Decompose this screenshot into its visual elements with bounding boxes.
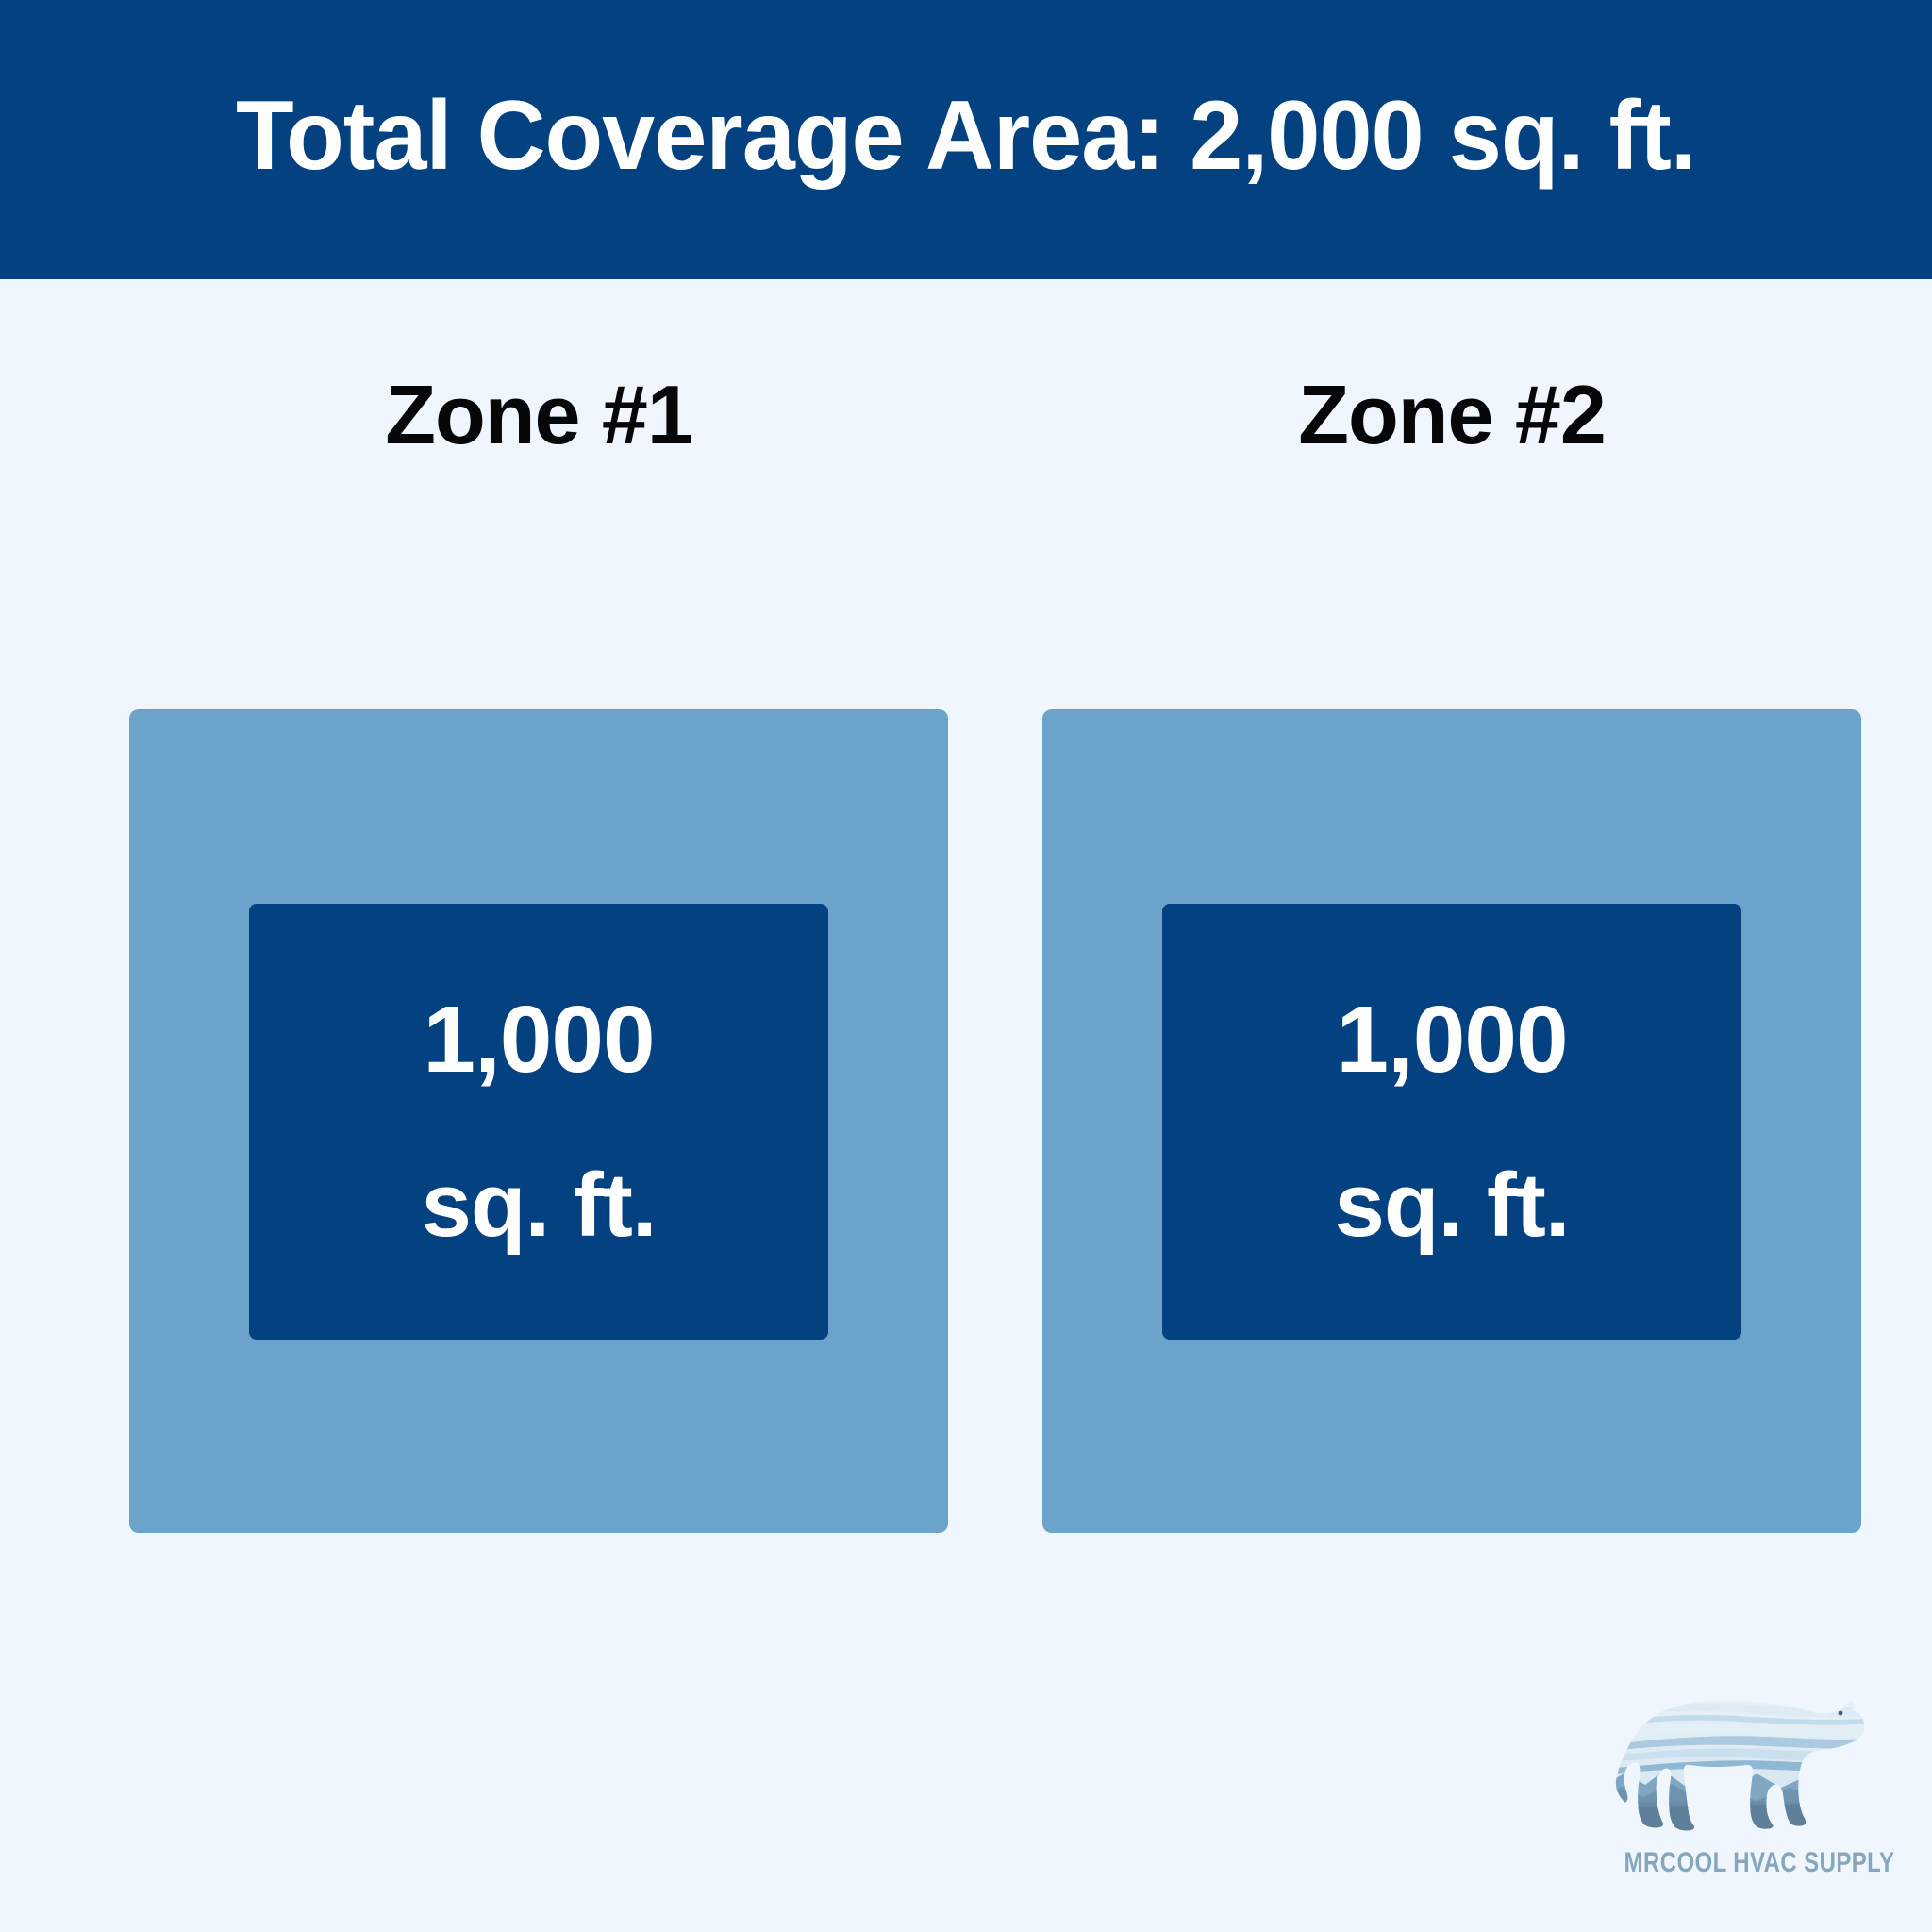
page-title: Total Coverage Area: 2,000 sq. ft. [236, 85, 1696, 188]
zone-label-2: Zone #2 [1042, 374, 1861, 457]
zone-area-unit-2: sq. ft. [1335, 1160, 1570, 1251]
bear-eye [1839, 1711, 1843, 1716]
logo-wordmark: MRCOOL HVAC SUPPLY [1624, 1849, 1848, 1877]
zone-area-value-2: 1,000 [1336, 992, 1567, 1087]
zone-area-unit-1: sq. ft. [422, 1160, 657, 1251]
polar-bear-icon [1596, 1690, 1875, 1841]
zone-area-value-1: 1,000 [423, 992, 654, 1087]
header-band: Total Coverage Area: 2,000 sq. ft. [0, 0, 1932, 279]
zone-label-1: Zone #1 [129, 374, 948, 457]
zone-outer-area-2: 1,000 sq. ft. [1042, 709, 1861, 1533]
zone-inner-area-1: 1,000 sq. ft. [249, 904, 828, 1340]
zones-container: Zone #1 1,000 sq. ft. Zone #2 1,000 sq. … [0, 279, 1932, 1932]
zone-inner-area-2: 1,000 sq. ft. [1162, 904, 1741, 1340]
zone-outer-area-1: 1,000 sq. ft. [129, 709, 948, 1533]
brand-logo: MRCOOL HVAC SUPPLY [1596, 1690, 1875, 1898]
